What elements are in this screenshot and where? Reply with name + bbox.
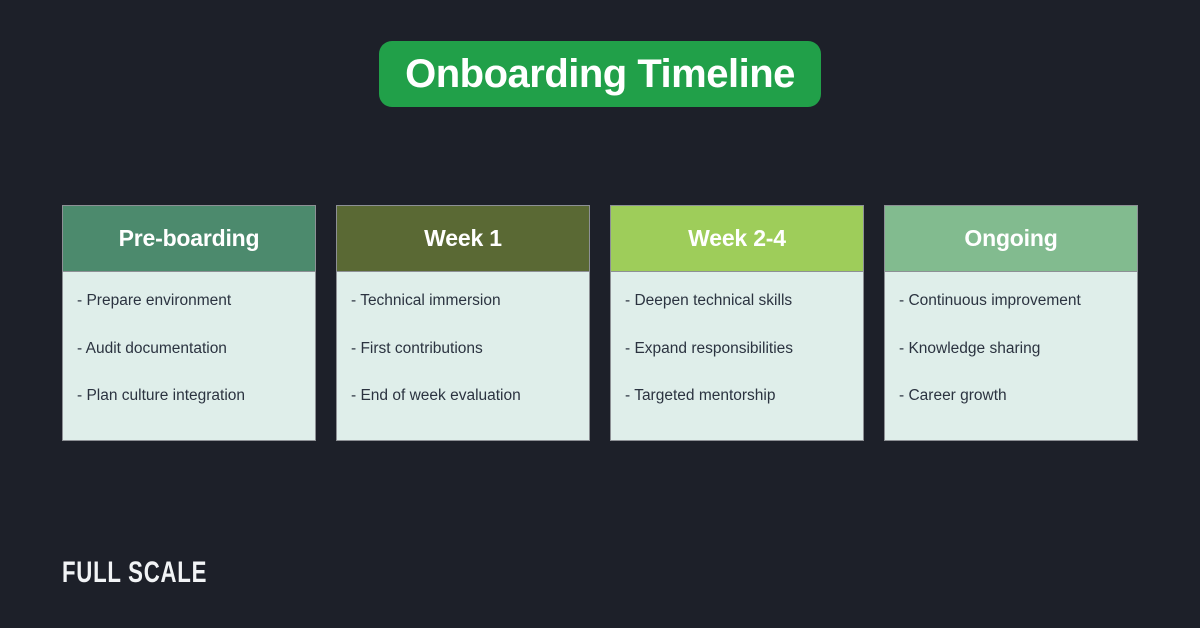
list-item: - Prepare environment xyxy=(77,292,301,311)
timeline-column: Week 1- Technical immersion- First contr… xyxy=(336,205,590,441)
title-badge: Onboarding Timeline xyxy=(379,41,821,107)
timeline-column: Week 2-4- Deepen technical skills- Expan… xyxy=(610,205,864,441)
list-item: - Audit documentation xyxy=(77,340,301,359)
column-header-label: Week 2-4 xyxy=(688,225,786,252)
column-header-label: Week 1 xyxy=(424,225,502,252)
list-item: - End of week evaluation xyxy=(351,387,575,406)
list-item: - Expand responsibilities xyxy=(625,340,849,359)
timeline-column: Pre-boarding- Prepare environment- Audit… xyxy=(62,205,316,441)
list-item: - Career growth xyxy=(899,387,1123,406)
column-header-label: Pre-boarding xyxy=(119,225,260,252)
column-header: Week 1 xyxy=(337,206,589,272)
list-item: - Knowledge sharing xyxy=(899,340,1123,359)
column-header: Week 2-4 xyxy=(611,206,863,272)
column-header: Ongoing xyxy=(885,206,1137,272)
brand-logo: FULL SCALE xyxy=(62,556,207,590)
column-body: - Technical immersion- First contributio… xyxy=(337,272,589,440)
timeline-board: Pre-boarding- Prepare environment- Audit… xyxy=(62,205,1138,441)
column-body: - Deepen technical skills- Expand respon… xyxy=(611,272,863,440)
list-item: - Continuous improvement xyxy=(899,292,1123,311)
timeline-column: Ongoing- Continuous improvement- Knowled… xyxy=(884,205,1138,441)
list-item: - Technical immersion xyxy=(351,292,575,311)
page-title: Onboarding Timeline xyxy=(405,54,795,94)
list-item: - Deepen technical skills xyxy=(625,292,849,311)
list-item: - Plan culture integration xyxy=(77,387,301,406)
list-item: - Targeted mentorship xyxy=(625,387,849,406)
column-body: - Prepare environment- Audit documentati… xyxy=(63,272,315,440)
column-header-label: Ongoing xyxy=(964,225,1057,252)
title-container: Onboarding Timeline xyxy=(0,41,1200,107)
column-header: Pre-boarding xyxy=(63,206,315,272)
list-item: - First contributions xyxy=(351,340,575,359)
column-body: - Continuous improvement- Knowledge shar… xyxy=(885,272,1137,440)
